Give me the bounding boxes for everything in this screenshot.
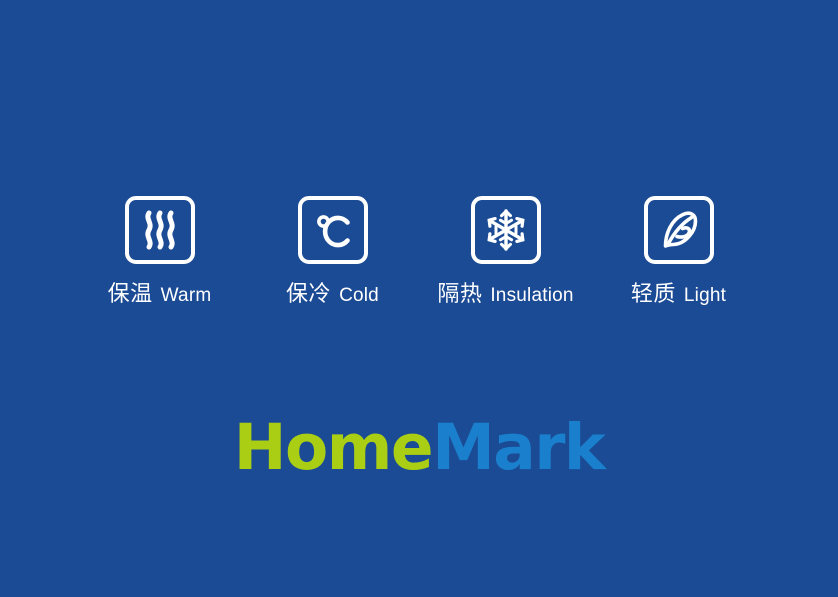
feature-label-cold: 保冷 Cold (286, 284, 379, 306)
brand-logo-home: Home (234, 411, 432, 484)
heat-waves-icon (140, 209, 180, 251)
feature-item-cold: 保冷 Cold (246, 196, 419, 306)
feather-leaf-icon (657, 208, 701, 252)
feature-label-cn: 保冷 (286, 284, 331, 306)
feature-label-light: 轻质 Light (631, 284, 726, 306)
brand-logo: HomeMark (0, 416, 838, 479)
feather-leaf-icon-box (644, 196, 714, 264)
feature-item-warm: 保温 Warm (73, 196, 246, 306)
heat-waves-icon-box (125, 196, 195, 264)
snowflake-icon-box (471, 196, 541, 264)
feature-label-en: Cold (339, 286, 379, 305)
feature-label-warm: 保温 Warm (108, 284, 212, 306)
snowflake-icon (484, 208, 528, 252)
feature-label-en: Light (684, 286, 726, 305)
poster-canvas: 保温 Warm 保冷 Cold (0, 0, 838, 597)
feature-label-cn: 保温 (108, 284, 153, 306)
feature-label-cn: 轻质 (631, 284, 676, 306)
feature-label-en: Warm (161, 286, 212, 305)
feature-item-insulation: 隔热 Insulation (419, 196, 592, 306)
feature-label-en: Insulation (490, 286, 573, 305)
feature-label-cn: 隔热 (437, 284, 482, 306)
celsius-degree-icon-box (298, 196, 368, 264)
feature-row: 保温 Warm 保冷 Cold (0, 196, 838, 306)
feature-item-light: 轻质 Light (592, 196, 765, 306)
feature-label-insulation: 隔热 Insulation (437, 284, 573, 306)
brand-logo-mark: Mark (432, 411, 604, 484)
celsius-degree-icon (312, 209, 354, 251)
